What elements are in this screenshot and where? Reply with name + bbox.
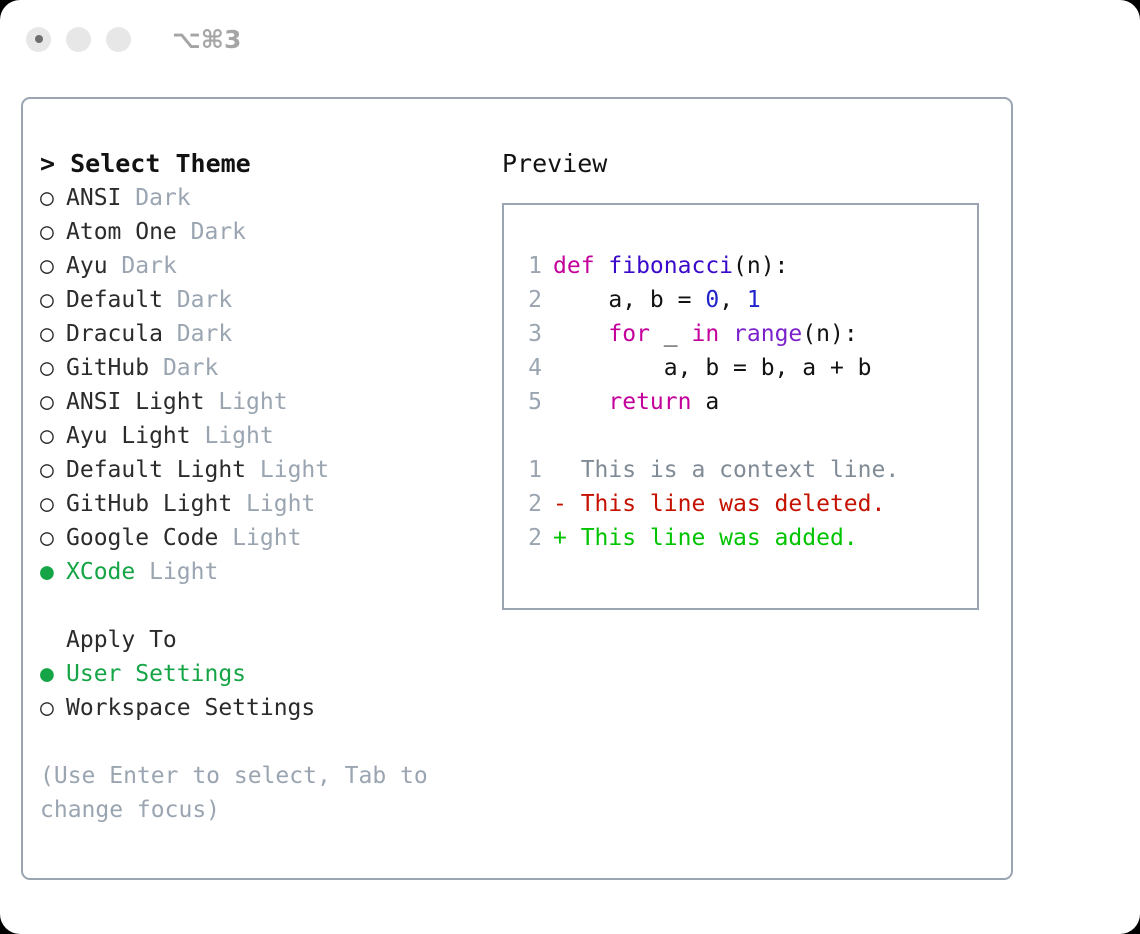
radio-unselected-icon: ○ xyxy=(40,419,66,453)
code-token: def xyxy=(553,253,608,279)
apply-to-section: Apply To ●User Settings○Workspace Settin… xyxy=(40,623,500,725)
app-window: ⌥⌘3 > Select Theme ○ANSI Dark○Atom One D… xyxy=(0,0,1140,934)
theme-list[interactable]: ○ANSI Dark○Atom One Dark○Ayu Dark○Defaul… xyxy=(40,181,500,589)
window-button-active[interactable] xyxy=(26,27,51,52)
radio-unselected-icon: ○ xyxy=(40,453,66,487)
select-theme-heading: > Select Theme xyxy=(40,147,500,181)
apply-to-list[interactable]: ●User Settings○Workspace Settings xyxy=(40,657,500,725)
theme-name-label: Ayu Light xyxy=(66,423,191,449)
code-token: a, b = xyxy=(553,287,705,313)
line-number: 3 xyxy=(516,317,542,351)
label-spacer xyxy=(204,389,218,415)
code-spacer xyxy=(516,419,977,453)
theme-variant-label: Light xyxy=(204,423,273,449)
theme-picker-panel: > Select Theme ○ANSI Dark○Atom One Dark○… xyxy=(21,97,1013,880)
line-number: 1 xyxy=(516,249,542,283)
theme-variant-label: Light xyxy=(260,457,329,483)
theme-variant-label: Dark xyxy=(191,219,246,245)
theme-variant-label: Dark xyxy=(163,355,218,381)
apply-to-heading: Apply To xyxy=(40,623,500,657)
apply-to-item[interactable]: ●User Settings xyxy=(40,657,500,691)
label-spacer xyxy=(163,321,177,347)
code-token: (n): xyxy=(733,253,788,279)
radio-selected-icon: ● xyxy=(40,657,66,691)
code-token: _ xyxy=(650,321,692,347)
theme-name-label: ANSI xyxy=(66,185,121,211)
code-line: 5 return a xyxy=(516,385,977,419)
label-spacer xyxy=(246,457,260,483)
preview-box: 1def fibonacci(n):2 a, b = 0, 13 for _ i… xyxy=(502,203,979,610)
theme-name-label: Ayu xyxy=(66,253,108,279)
code-token: (n): xyxy=(802,321,857,347)
theme-variant-label: Dark xyxy=(121,253,176,279)
radio-unselected-icon: ○ xyxy=(40,181,66,215)
code-token: 0 xyxy=(705,287,719,313)
theme-list-item[interactable]: ○Google Code Light xyxy=(40,521,500,555)
code-token: for xyxy=(608,321,650,347)
theme-name-label: Atom One xyxy=(66,219,177,245)
label-spacer xyxy=(177,219,191,245)
code-token xyxy=(553,389,608,415)
theme-variant-label: Light xyxy=(232,525,301,551)
theme-list-item[interactable]: ○ANSI Dark xyxy=(40,181,500,215)
preview-column: Preview 1def fibonacci(n):2 a, b = 0, 13… xyxy=(502,147,1002,610)
label-spacer xyxy=(108,253,122,279)
diff-sample: 1 This is a context line.2- This line wa… xyxy=(516,453,977,555)
theme-name-label: GitHub xyxy=(66,355,149,381)
keyboard-hint-text: (Use Enter to select, Tab to change focu… xyxy=(40,759,450,827)
radio-unselected-icon: ○ xyxy=(40,215,66,249)
label-spacer xyxy=(218,525,232,551)
code-token xyxy=(719,321,733,347)
theme-selection-column: > Select Theme ○ANSI Dark○Atom One Dark○… xyxy=(40,147,500,827)
code-sample: 1def fibonacci(n):2 a, b = 0, 13 for _ i… xyxy=(516,249,977,419)
code-token: 1 xyxy=(747,287,761,313)
theme-list-item[interactable]: ●XCode Light xyxy=(40,555,500,589)
label-spacer xyxy=(121,185,135,211)
line-number: 2 xyxy=(516,283,542,317)
radio-unselected-icon: ○ xyxy=(40,487,66,521)
code-token: fibonacci xyxy=(608,253,733,279)
theme-list-item[interactable]: ○Default Dark xyxy=(40,283,500,317)
theme-name-label: Dracula xyxy=(66,321,163,347)
radio-selected-icon: ● xyxy=(40,555,66,589)
theme-name-label: XCode xyxy=(66,559,135,585)
code-line: 4 a, b = b, a + b xyxy=(516,351,977,385)
diff-line: 2+ This line was added. xyxy=(516,521,977,555)
preview-heading: Preview xyxy=(502,147,1002,181)
radio-unselected-icon: ○ xyxy=(40,249,66,283)
window-button-3[interactable] xyxy=(106,27,131,52)
theme-list-item[interactable]: ○GitHub Light Light xyxy=(40,487,500,521)
diff-line: 2- This line was deleted. xyxy=(516,487,977,521)
theme-variant-label: Light xyxy=(246,491,315,517)
code-line: 1def fibonacci(n): xyxy=(516,249,977,283)
radio-unselected-icon: ○ xyxy=(40,521,66,555)
theme-name-label: GitHub Light xyxy=(66,491,232,517)
theme-name-label: Default xyxy=(66,287,163,313)
theme-list-item[interactable]: ○GitHub Dark xyxy=(40,351,500,385)
code-token: a xyxy=(691,389,719,415)
apply-to-label: Workspace Settings xyxy=(66,695,315,721)
theme-variant-label: Light xyxy=(149,559,218,585)
theme-variant-label: Dark xyxy=(177,287,232,313)
line-number: 2 xyxy=(516,521,542,555)
code-token: , xyxy=(719,287,747,313)
line-number: 2 xyxy=(516,487,542,521)
line-number: 4 xyxy=(516,351,542,385)
label-spacer xyxy=(135,559,149,585)
code-token: return xyxy=(608,389,691,415)
keyboard-shortcut-label: ⌥⌘3 xyxy=(172,25,241,54)
radio-unselected-icon: ○ xyxy=(40,317,66,351)
label-spacer xyxy=(163,287,177,313)
code-token: a, b = b, a + b xyxy=(553,355,872,381)
apply-to-item[interactable]: ○Workspace Settings xyxy=(40,691,500,725)
code-token xyxy=(553,321,608,347)
theme-name-label: ANSI Light xyxy=(66,389,204,415)
theme-list-item[interactable]: ○Default Light Light xyxy=(40,453,500,487)
theme-variant-label: Light xyxy=(218,389,287,415)
diff-text: This is a context line. xyxy=(553,457,899,483)
label-spacer xyxy=(232,491,246,517)
radio-unselected-icon: ○ xyxy=(40,385,66,419)
theme-list-item[interactable]: ○Dracula Dark xyxy=(40,317,500,351)
window-button-2[interactable] xyxy=(66,27,91,52)
theme-list-item[interactable]: ○Atom One Dark xyxy=(40,215,500,249)
theme-variant-label: Dark xyxy=(177,321,232,347)
theme-name-label: Default Light xyxy=(66,457,246,483)
theme-list-item[interactable]: ○ANSI Light Light xyxy=(40,385,500,419)
line-number: 5 xyxy=(516,385,542,419)
code-token: range xyxy=(733,321,802,347)
diff-text: - This line was deleted. xyxy=(553,491,885,517)
theme-list-item[interactable]: ○Ayu Dark xyxy=(40,249,500,283)
code-token: in xyxy=(691,321,719,347)
radio-unselected-icon: ○ xyxy=(40,283,66,317)
diff-text: + This line was added. xyxy=(553,525,858,551)
line-number: 1 xyxy=(516,453,542,487)
window-titlebar: ⌥⌘3 xyxy=(0,0,1140,78)
label-spacer xyxy=(149,355,163,381)
diff-line: 1 This is a context line. xyxy=(516,453,977,487)
label-spacer xyxy=(191,423,205,449)
theme-variant-label: Dark xyxy=(135,185,190,211)
theme-name-label: Google Code xyxy=(66,525,218,551)
window-button-dot xyxy=(35,35,43,43)
theme-list-item[interactable]: ○Ayu Light Light xyxy=(40,419,500,453)
code-line: 3 for _ in range(n): xyxy=(516,317,977,351)
apply-to-label: User Settings xyxy=(66,661,246,687)
code-line: 2 a, b = 0, 1 xyxy=(516,283,977,317)
radio-unselected-icon: ○ xyxy=(40,351,66,385)
radio-unselected-icon: ○ xyxy=(40,691,66,725)
